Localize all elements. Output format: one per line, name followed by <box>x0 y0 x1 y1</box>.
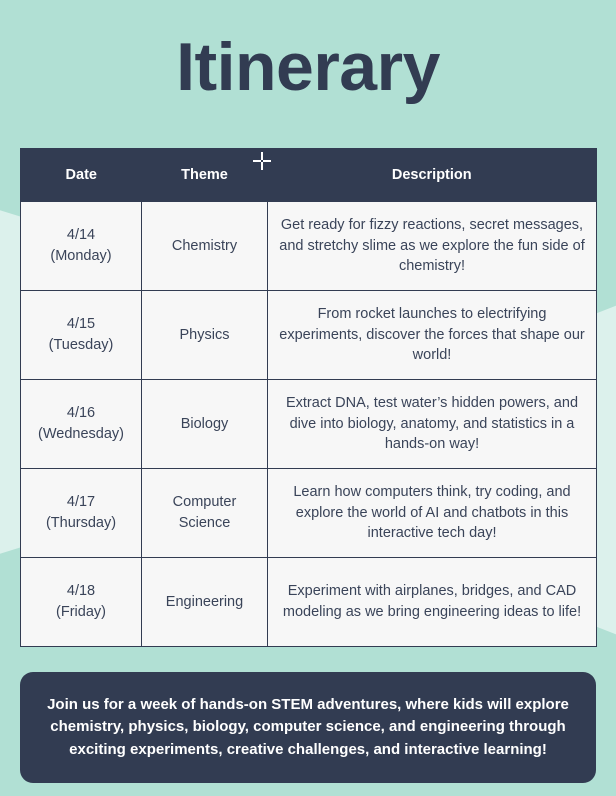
table-body: 4/14 (Monday) Chemistry Get ready for fi… <box>21 202 597 647</box>
cell-theme: Engineering <box>142 558 268 647</box>
date-value: 4/17 <box>31 492 131 513</box>
column-header-theme: Theme <box>142 149 268 202</box>
date-value: 4/14 <box>31 225 131 246</box>
column-header-description: Description <box>268 149 597 202</box>
date-weekday: (Wednesday) <box>31 424 131 445</box>
column-header-date: Date <box>21 149 142 202</box>
cell-theme: Computer Science <box>142 469 268 558</box>
footer-banner: Join us for a week of hands-on STEM adve… <box>20 672 596 783</box>
cell-date: 4/18 (Friday) <box>21 558 142 647</box>
date-weekday: (Friday) <box>31 602 131 623</box>
table-header: Date Theme Description <box>21 149 597 202</box>
cell-description: Get ready for fizzy reactions, secret me… <box>268 202 597 291</box>
cell-theme: Chemistry <box>142 202 268 291</box>
cell-date: 4/15 (Tuesday) <box>21 291 142 380</box>
date-value: 4/16 <box>31 403 131 424</box>
cell-description: Learn how computers think, try coding, a… <box>268 469 597 558</box>
cell-date: 4/16 (Wednesday) <box>21 380 142 469</box>
date-value: 4/18 <box>31 581 131 602</box>
cell-description: Extract DNA, test water’s hidden powers,… <box>268 380 597 469</box>
date-value: 4/15 <box>31 314 131 335</box>
cell-theme: Biology <box>142 380 268 469</box>
footer-text: Join us for a week of hands-on STEM adve… <box>38 694 578 762</box>
cell-description: Experiment with airplanes, bridges, and … <box>268 558 597 647</box>
table-row: 4/18 (Friday) Engineering Experiment wit… <box>21 558 597 647</box>
cell-description: From rocket launches to electrifying exp… <box>268 291 597 380</box>
table-row: 4/17 (Thursday) Computer Science Learn h… <box>21 469 597 558</box>
table-row: 4/15 (Tuesday) Physics From rocket launc… <box>21 291 597 380</box>
date-weekday: (Thursday) <box>31 513 131 534</box>
cell-theme: Physics <box>142 291 268 380</box>
table-row: 4/16 (Wednesday) Biology Extract DNA, te… <box>21 380 597 469</box>
cell-date: 4/14 (Monday) <box>21 202 142 291</box>
table-row: 4/14 (Monday) Chemistry Get ready for fi… <box>21 202 597 291</box>
date-weekday: (Tuesday) <box>31 335 131 356</box>
itinerary-table: Date Theme Description 4/14 (Monday) Che… <box>20 148 597 647</box>
date-weekday: (Monday) <box>31 246 131 267</box>
table-header-row: Date Theme Description <box>21 149 597 202</box>
page-title: Itinerary <box>0 0 616 101</box>
itinerary-page: Itinerary Date Theme Description 4/14 (M… <box>0 0 616 796</box>
cell-date: 4/17 (Thursday) <box>21 469 142 558</box>
